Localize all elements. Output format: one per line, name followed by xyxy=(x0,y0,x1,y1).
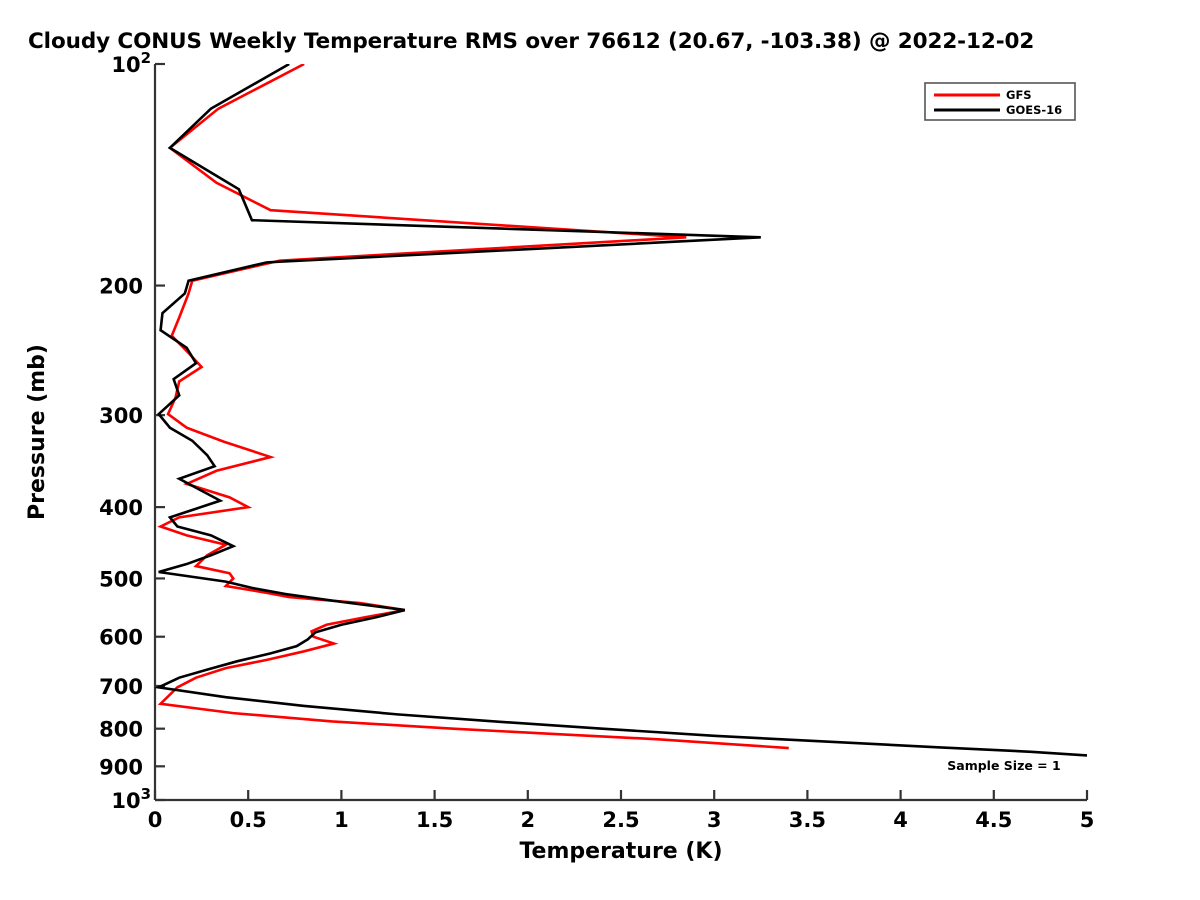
x-tick-label-0: 0 xyxy=(148,808,163,832)
y-tick-label-1000: 103 xyxy=(111,785,151,813)
x-tick-label-4: 4 xyxy=(893,808,908,832)
y-axis-title: Pressure (mb) xyxy=(25,344,50,520)
x-axis-title: Temperature (K) xyxy=(519,839,722,864)
x-tick-label-3: 3 xyxy=(707,808,722,832)
x-tick-label-2: 2 xyxy=(520,808,535,832)
x-axis-tick-labels: 00.511.522.533.544.55 xyxy=(148,808,1095,832)
x-tick-label-4.5: 4.5 xyxy=(975,808,1012,832)
y-tick-label-200: 200 xyxy=(99,275,143,299)
y-tick-label-600: 600 xyxy=(99,626,143,650)
x-axis-ticks xyxy=(155,790,1087,800)
y-tick-label-500: 500 xyxy=(99,567,143,591)
x-tick-label-2.5: 2.5 xyxy=(602,808,639,832)
y-tick-label-400: 400 xyxy=(99,496,143,520)
y-tick-label-100: 102 xyxy=(111,49,151,77)
x-tick-label-0.5: 0.5 xyxy=(230,808,267,832)
data-series-group xyxy=(159,64,1087,755)
y-axis-tick-labels: 102200300400500600700800900103 xyxy=(99,49,151,813)
x-tick-label-3.5: 3.5 xyxy=(789,808,826,832)
y-tick-label-300: 300 xyxy=(99,404,143,428)
x-tick-label-5: 5 xyxy=(1080,808,1095,832)
sample-size-annotation: Sample Size = 1 xyxy=(947,758,1060,773)
y-axis-ticks xyxy=(155,64,165,800)
axis-frame xyxy=(155,64,1087,800)
y-tick-label-700: 700 xyxy=(99,675,143,699)
x-tick-label-1: 1 xyxy=(334,808,349,832)
series-line-gfs xyxy=(161,64,789,748)
figure-canvas: Cloudy CONUS Weekly Temperature RMS over… xyxy=(0,0,1200,900)
legend-label-goes16: GOES-16 xyxy=(1006,103,1062,117)
legend-label-gfs: GFS xyxy=(1006,88,1032,102)
y-tick-label-800: 800 xyxy=(99,718,143,742)
x-tick-label-1.5: 1.5 xyxy=(416,808,453,832)
y-tick-label-900: 900 xyxy=(99,755,143,779)
temperature-rms-profile-chart: 102200300400500600700800900103 00.511.52… xyxy=(0,0,1200,900)
legend: GFS GOES-16 xyxy=(925,83,1075,120)
